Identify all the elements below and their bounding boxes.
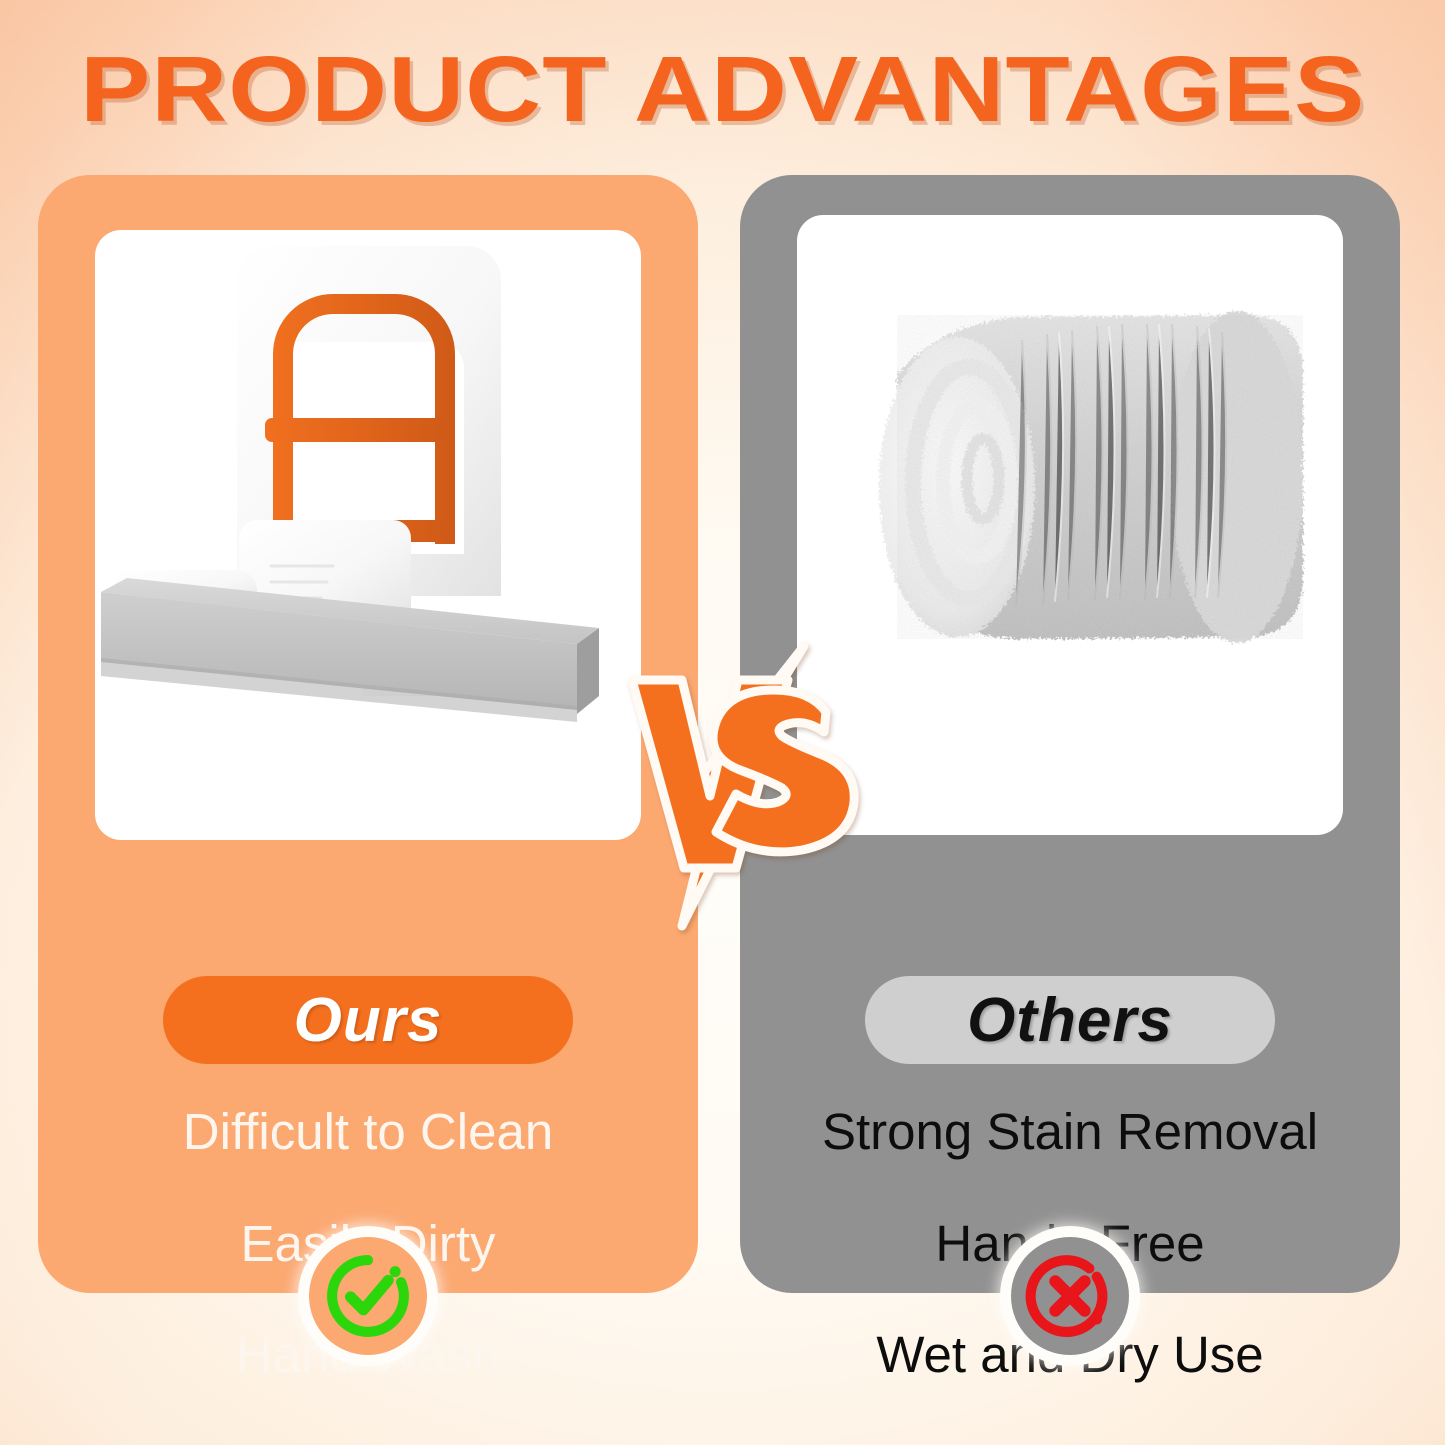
page-title-text: PRODUCT ADVANTAGES — [80, 36, 1365, 143]
label-pill-others: Others — [865, 976, 1275, 1064]
microfiber-cloth-roll-illustration — [797, 215, 1343, 835]
label-pill-others-text: Others — [967, 985, 1173, 1056]
vs-divider-logo — [618, 636, 868, 936]
product-photo-ours — [95, 230, 641, 840]
squeegee-mop-illustration — [95, 230, 641, 840]
cross-circle-icon — [1024, 1250, 1116, 1342]
page-title: PRODUCT ADVANTAGES — [0, 34, 1445, 144]
verdict-badge-ours — [309, 1237, 427, 1355]
feature-item: Difficult to Clean — [183, 1105, 553, 1159]
verdict-badge-others — [1011, 1237, 1129, 1355]
product-photo-others — [797, 215, 1343, 835]
check-circle-icon — [322, 1250, 414, 1342]
infographic-canvas: PRODUCT ADVANTAGES — [0, 0, 1445, 1445]
vs-lightning-icon — [618, 636, 868, 936]
label-pill-ours: Ours — [163, 976, 573, 1064]
comparison-panel-ours: Ours Difficult to Clean Easily Dirty Han… — [38, 175, 698, 1293]
label-pill-ours-text: Ours — [294, 985, 443, 1056]
feature-item: Strong Stain Removal — [822, 1105, 1318, 1159]
